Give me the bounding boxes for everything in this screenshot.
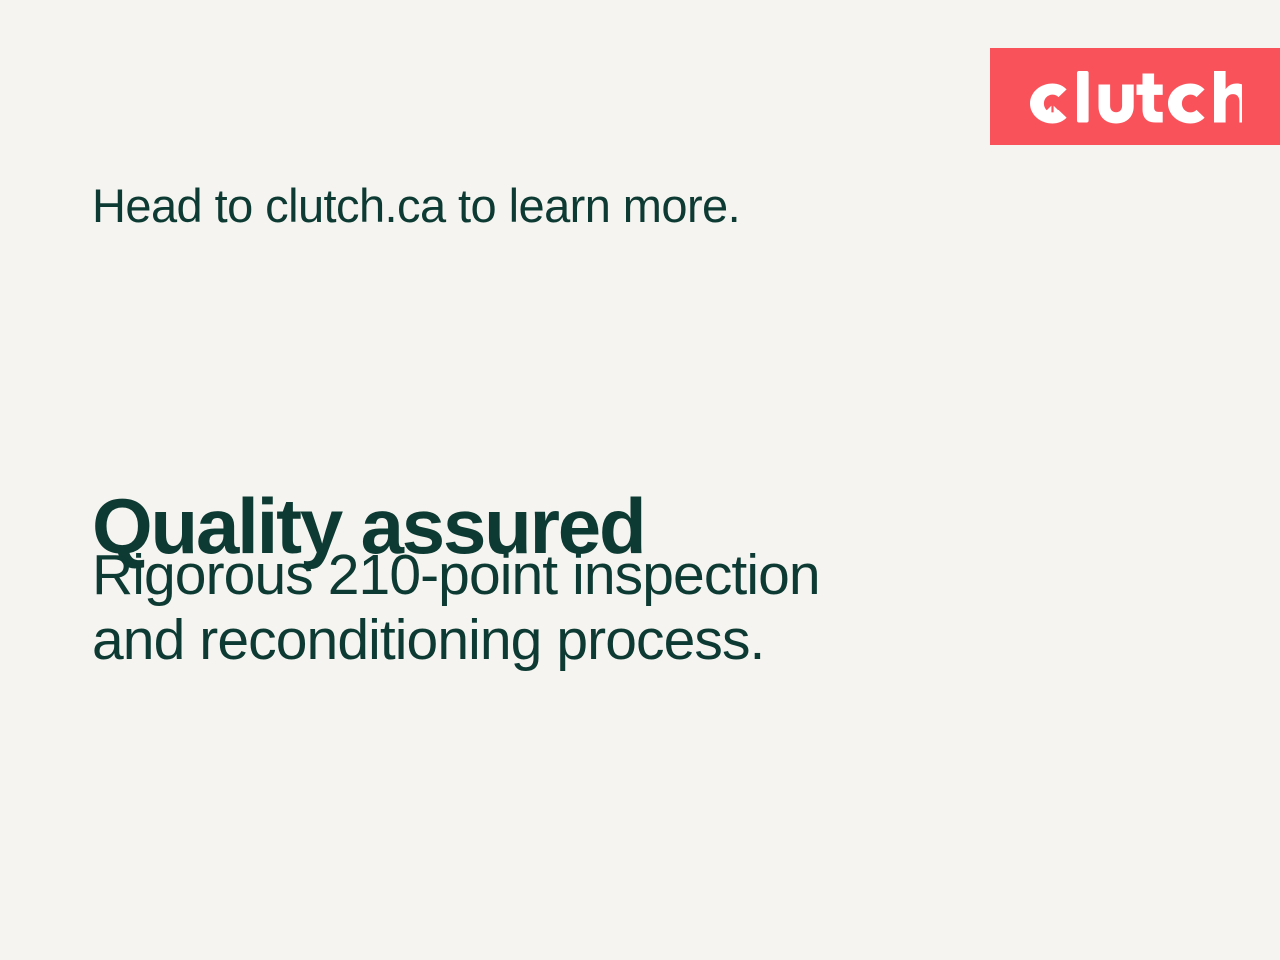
body-copy-line-1: Rigorous 210-point inspection [92,543,820,608]
slide-canvas: Head to clutch.ca to learn more. Quality… [0,0,1280,960]
clutch-wordmark-icon [1022,67,1242,129]
clutch-logo-block[interactable] [990,48,1280,145]
body-copy-line-2: and reconditioning process. [92,608,820,673]
body-copy: Rigorous 210-point inspection and recond… [92,543,820,673]
eyebrow-text: Head to clutch.ca to learn more. [92,180,740,233]
